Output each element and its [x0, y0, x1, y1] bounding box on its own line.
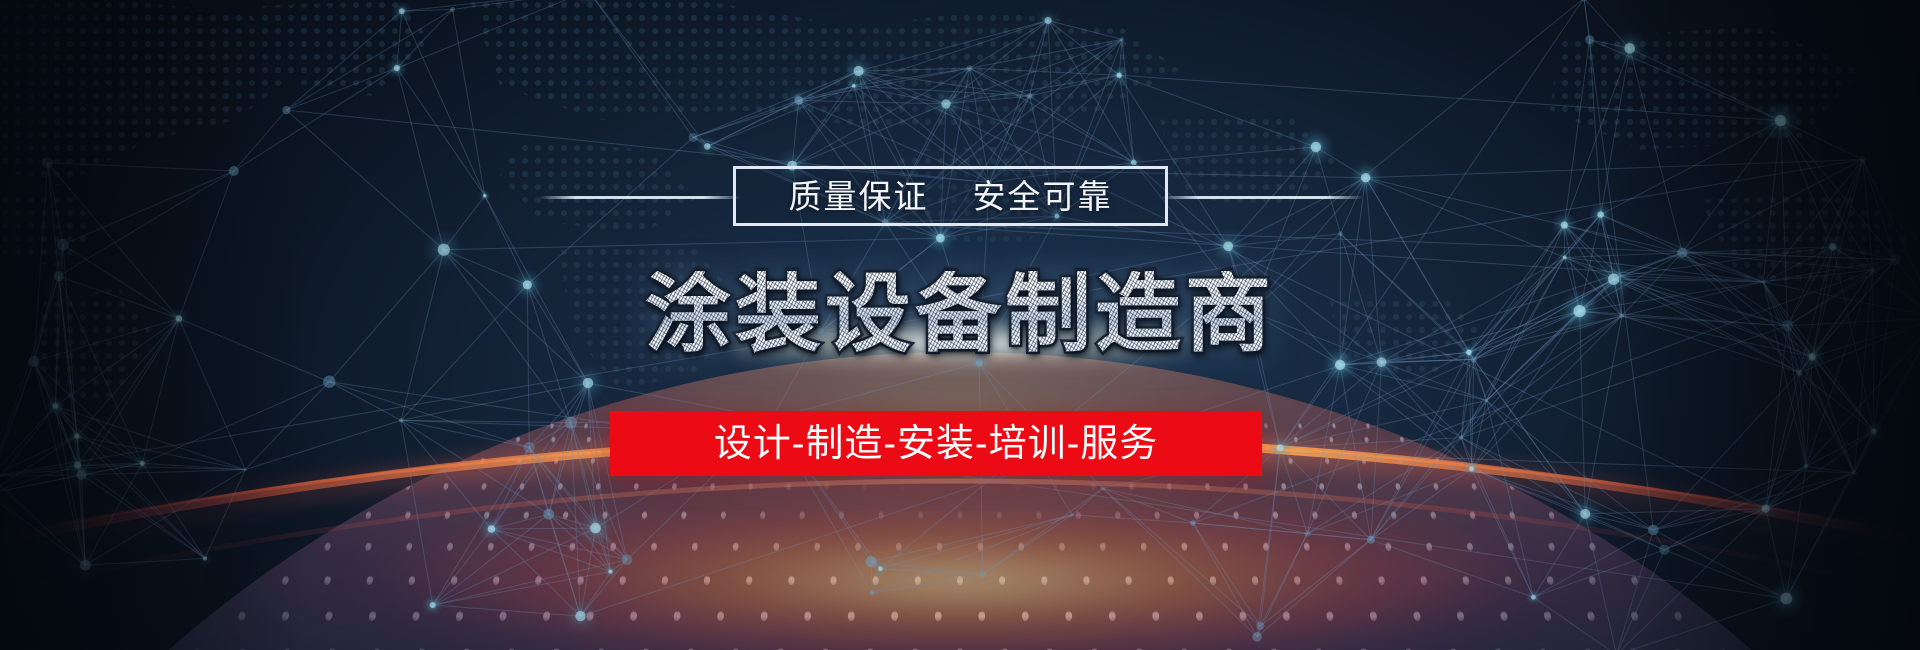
tagline-item-quality: 质量保证	[789, 180, 929, 213]
tagline-box: 质量保证 安全可靠	[733, 166, 1168, 226]
page-title: 涂装设备制造商	[0, 271, 1920, 357]
tagline-rule-left	[540, 196, 740, 199]
tagline-item-safety: 安全可靠	[973, 180, 1113, 213]
services-callout-text: 设计-制造-安装-培训-服务	[714, 425, 1159, 463]
tagline-row: 质量保证 安全可靠	[0, 166, 1920, 228]
services-callout-bar: 设计-制造-安装-培训-服务	[610, 411, 1262, 476]
tagline-rule-right	[1162, 196, 1362, 199]
hero-banner: 质量保证 安全可靠 涂装设备制造商 涂装设备制造商 设计-制造-安装-培训-服务	[0, 0, 1920, 650]
